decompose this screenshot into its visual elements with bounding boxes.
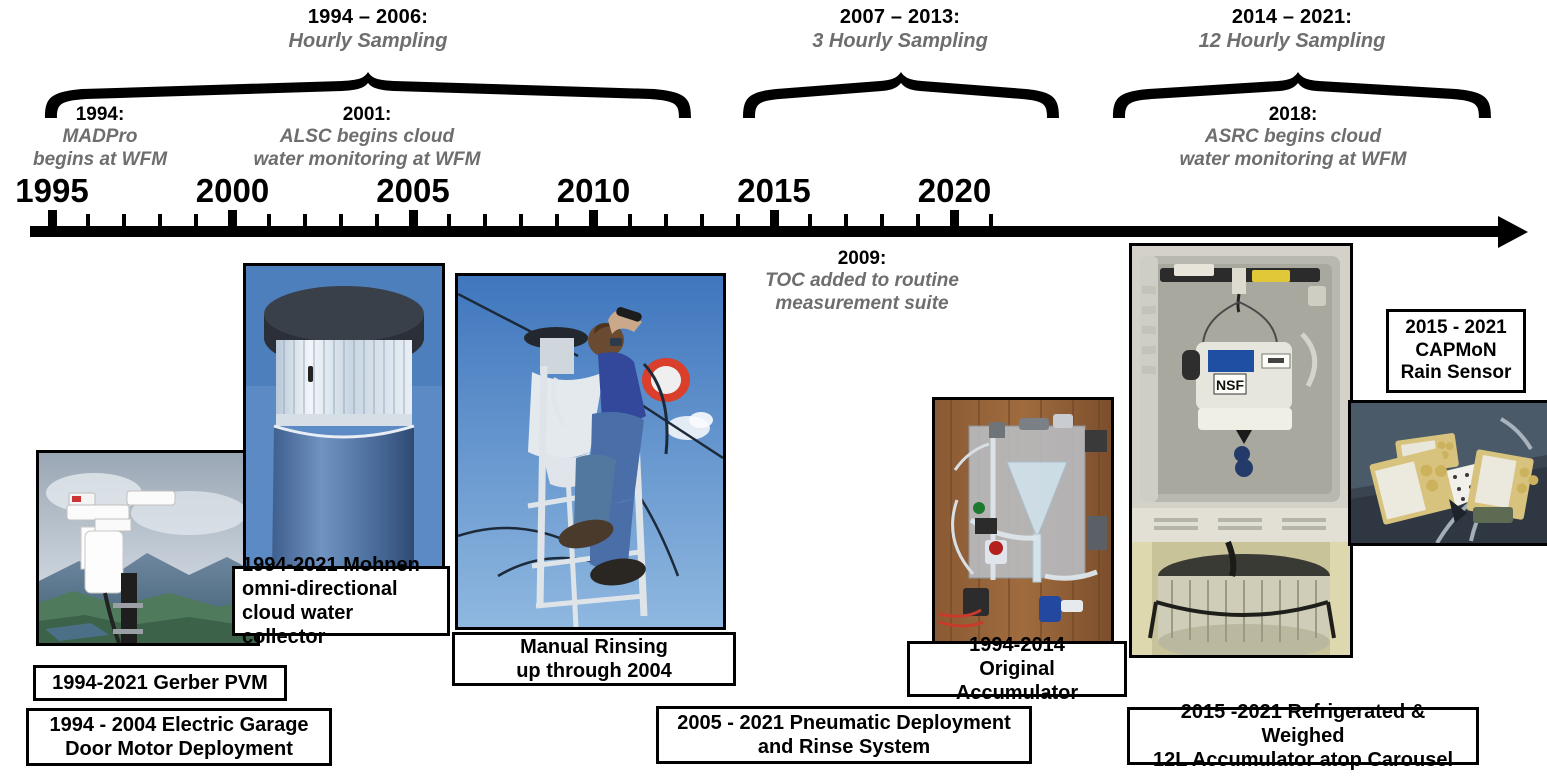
axis-tick-minor [267, 214, 271, 226]
axis-label-2005: 2005 [376, 172, 449, 210]
event-2009-text: TOC added to routine measurement suite [712, 270, 1012, 315]
axis-tick-minor [519, 214, 523, 226]
axis-tick-major [48, 210, 57, 226]
period-3-years: 2014 – 2021: [1112, 6, 1472, 30]
period-1-years: 1994 – 2006: [188, 6, 548, 30]
caption-gerber: 1994-2021 Gerber PVM [33, 665, 287, 701]
axis-tick-minor [158, 214, 162, 226]
axis-tick-major [589, 210, 598, 226]
capmon-rain-sensor-photo [1348, 400, 1547, 546]
period-label-3: 2014 – 2021: 12 Hourly Sampling [1112, 6, 1472, 53]
period-2-years: 2007 – 2013: [720, 6, 1080, 30]
event-2018-year: 2018: [1122, 104, 1464, 126]
event-2001-text: ALSC begins cloud water monitoring at WF… [196, 126, 538, 171]
axis-label-1995: 1995 [15, 172, 88, 210]
period-2-description: 3 Hourly Sampling [720, 30, 1080, 54]
axis-tick-minor [555, 214, 559, 226]
axis-label-2000: 2000 [196, 172, 269, 210]
axis-tick-minor [880, 214, 884, 226]
event-2009-year: 2009: [712, 248, 1012, 270]
axis-tick-minor [122, 214, 126, 226]
svg-text:NSF: NSF [1216, 377, 1244, 393]
timeline-axis: 199520002005201020152020 [0, 180, 1547, 250]
original-accumulator-photo [932, 397, 1114, 653]
axis-tick-minor [808, 214, 812, 226]
axis-tick-minor [664, 214, 668, 226]
axis-label-2020: 2020 [918, 172, 991, 210]
axis-tick-minor [916, 214, 920, 226]
period-label-1: 1994 – 2006: Hourly Sampling [188, 6, 548, 53]
axis-tick-minor [375, 214, 379, 226]
event-callout-2001: 2001: ALSC begins cloud water monitoring… [196, 104, 538, 171]
axis-tick-major [770, 210, 779, 226]
axis-tick-major [228, 210, 237, 226]
axis-tick-major [950, 210, 959, 226]
period-1-description: Hourly Sampling [188, 30, 548, 54]
caption-manual-rinse: Manual Rinsing up through 2004 [452, 632, 736, 686]
axis-arrow-icon [1498, 216, 1528, 248]
period-brace-2 [740, 72, 1062, 118]
axis-tick-major [409, 210, 418, 226]
event-2001-year: 2001: [196, 104, 538, 126]
axis-tick-minor [303, 214, 307, 226]
axis-tick-minor [194, 214, 198, 226]
axis-label-2010: 2010 [557, 172, 630, 210]
axis-tick-minor [628, 214, 632, 226]
event-1994-text: MADPro begins at WFM [0, 126, 200, 171]
period-3-description: 12 Hourly Sampling [1112, 30, 1472, 54]
gerber-pvm-photo [36, 450, 260, 646]
axis-line [30, 226, 1502, 237]
axis-tick-minor [736, 214, 740, 226]
axis-tick-minor [844, 214, 848, 226]
event-callout-1994: 1994: MADPro begins at WFM [0, 104, 200, 171]
mohnen-collector-photo [243, 263, 445, 576]
axis-tick-minor [447, 214, 451, 226]
axis-tick-minor [86, 214, 90, 226]
caption-rain-sensor: 2015 - 2021 CAPMoN Rain Sensor [1386, 309, 1526, 393]
caption-mohnen: 1994-2021 Mohnen omni-directional cloud … [232, 566, 450, 636]
axis-tick-minor [700, 214, 704, 226]
period-label-2: 2007 – 2013: 3 Hourly Sampling [720, 6, 1080, 53]
caption-pneumatic: 2005 - 2021 Pneumatic Deployment and Rin… [656, 706, 1032, 764]
event-1994-year: 1994: [0, 104, 200, 126]
axis-tick-minor [483, 214, 487, 226]
caption-garage-motor: 1994 - 2004 Electric Garage Door Motor D… [26, 708, 332, 766]
caption-refrigerated: 2015 -2021 Refrigerated & Weighed 12L Ac… [1127, 707, 1479, 765]
axis-tick-minor [989, 214, 993, 226]
manual-rinsing-photo [455, 273, 726, 630]
event-callout-2018: 2018: ASRC begins cloud water monitoring… [1122, 104, 1464, 171]
axis-tick-minor [339, 214, 343, 226]
event-callout-2009: 2009: TOC added to routine measurement s… [712, 248, 1012, 315]
refrigerated-accumulator-photo: NSF [1129, 243, 1353, 658]
axis-label-2015: 2015 [737, 172, 810, 210]
event-2018-text: ASRC begins cloud water monitoring at WF… [1122, 126, 1464, 171]
caption-accumulator: 1994-2014 Original Accumulator [907, 641, 1127, 697]
